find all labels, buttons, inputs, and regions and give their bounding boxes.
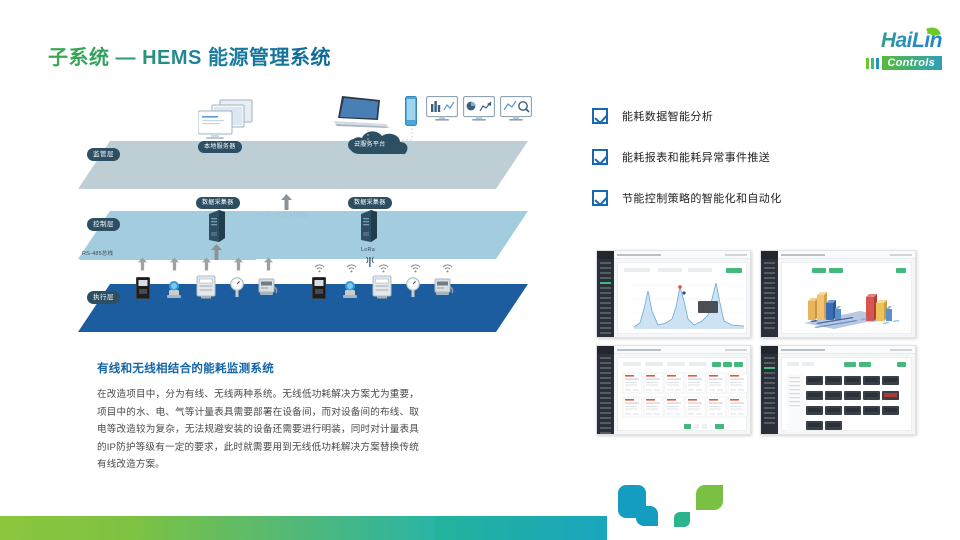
report-monitor-icon-2 (463, 96, 495, 122)
layer-label-management: 监管层 (87, 148, 120, 161)
deco-leaf-blue-small (636, 506, 658, 526)
pressure-gauge-icon-1 (230, 277, 244, 299)
meter-arrow-icon-1 (138, 257, 147, 271)
architecture-diagram: 监管层 本地服务器 (78, 84, 528, 344)
uplink-arrow-icon (281, 194, 290, 210)
meter-arrow-icon-4 (234, 257, 243, 271)
link-label-lora: LoRa (361, 247, 375, 253)
local-server-monitors-icon (198, 98, 262, 146)
pressure-gauge-icon-2 (406, 277, 420, 299)
shot2-topbar (778, 251, 915, 259)
checkbox-checked-icon[interactable] (592, 149, 608, 165)
shot2-3d-bars (786, 277, 912, 333)
deco-leaf-teal-small (674, 512, 690, 527)
wifi-icon-2 (346, 260, 357, 278)
logo-wordmark: HaiLin (824, 30, 942, 52)
link-label-rs485: RS-485总线 (82, 249, 113, 257)
meter-arrow-icon-5 (264, 257, 273, 271)
footer-gradient-bar (0, 516, 435, 540)
meter-arrow-icon-2 (170, 257, 179, 271)
shot4-sidebar (761, 346, 778, 434)
deco-leaf-green (696, 485, 723, 510)
caption-title: 有线和无线相结合的能耗监测系统 (97, 360, 274, 376)
shot3-topbar (614, 346, 750, 354)
logo-subtitle: Controls (882, 56, 942, 70)
brand-logo: HaiLin Controls (824, 30, 942, 74)
shot4-topbar (778, 346, 915, 354)
logo-bars-icon (866, 58, 879, 69)
wifi-icon-5 (442, 260, 453, 278)
check-item-3-label: 节能控制策略的智能化和自动化 (622, 190, 782, 206)
logo-wordmark-row: HaiLin (824, 30, 942, 54)
shot1-topbar (614, 251, 750, 259)
smartphone-icon (405, 96, 417, 126)
shot3-canvas (614, 354, 750, 434)
shot1-sidebar (597, 251, 614, 337)
wifi-icon-1 (314, 260, 325, 278)
checkbox-checked-icon[interactable] (592, 108, 608, 124)
shot2-sidebar (761, 251, 778, 337)
gas-meter-icon-2 (372, 275, 392, 299)
node-local-server: 本地服务器 (198, 141, 242, 153)
node-data-collector-wired: 数据采集器 (196, 197, 240, 209)
slide: 子系统 — HEMS 能源管理系统 HaiLin Controls 监管层 (0, 0, 960, 540)
meter-arrow-icon-3 (202, 257, 211, 271)
lora-antenna-icon (363, 255, 377, 267)
layer-label-execution: 执行层 (87, 291, 120, 304)
check-item-1-label: 能耗数据智能分析 (622, 108, 713, 124)
page-title: 子系统 — HEMS 能源管理系统 (48, 41, 331, 70)
shot4-device-tiles (786, 372, 914, 434)
gas-meter-icon-1 (196, 275, 216, 299)
shot-3d-bar-chart[interactable] (760, 250, 916, 338)
layer-control-slab (78, 211, 528, 259)
wifi-icon-4 (410, 260, 421, 278)
cloud-dashed-links (328, 126, 438, 150)
layer-management-slab (78, 141, 528, 189)
feature-checklist: 能耗数据智能分析 能耗报表和能耗异常事件推送 节能控制策略的智能化和自动化 (592, 108, 782, 231)
report-monitor-icon-3 (500, 96, 532, 122)
shot2-canvas (778, 259, 915, 337)
shot1-canvas (614, 259, 750, 337)
data-collector-device-icon-1 (209, 210, 225, 244)
water-meter-icon-1 (166, 280, 182, 299)
rs485-arrow-icon (211, 244, 220, 260)
heat-meter-icon-2 (434, 278, 454, 299)
checkbox-checked-icon[interactable] (592, 190, 608, 206)
shot3-cards (622, 372, 750, 432)
heat-meter-icon-1 (258, 278, 278, 299)
dashboard-screenshots (596, 250, 920, 440)
node-data-collector-wireless: 数据采集器 (348, 197, 392, 209)
logo-sub-row: Controls (824, 56, 942, 70)
check-item-2-label: 能耗报表和能耗异常事件推送 (622, 149, 770, 165)
electric-meter-icon-1 (136, 277, 150, 299)
caption-body: 在改造项目中，分为有线、无线两种系统。无线低功耗解决方案尤为重要，项目中的水、电… (97, 386, 419, 474)
check-item-3[interactable]: 节能控制策略的智能化和自动化 (592, 190, 782, 206)
data-collector-device-icon-2 (361, 210, 377, 244)
check-item-1[interactable]: 能耗数据智能分析 (592, 108, 782, 124)
shot-trend-chart[interactable] (596, 250, 751, 338)
shot-device-tiles[interactable] (760, 345, 916, 435)
shot3-sidebar (597, 346, 614, 434)
shot1-line-chart (624, 279, 746, 331)
footer-teal-bar (435, 516, 607, 540)
electric-meter-icon-2 (312, 277, 326, 299)
layer-label-control: 控制层 (87, 218, 120, 231)
shot-card-grid[interactable] (596, 345, 751, 435)
shot4-canvas (778, 354, 915, 434)
rs485-bus-line (80, 259, 256, 260)
water-meter-icon-2 (342, 280, 358, 299)
report-monitor-icon-1 (426, 96, 458, 122)
check-item-2[interactable]: 能耗报表和能耗异常事件推送 (592, 149, 782, 165)
